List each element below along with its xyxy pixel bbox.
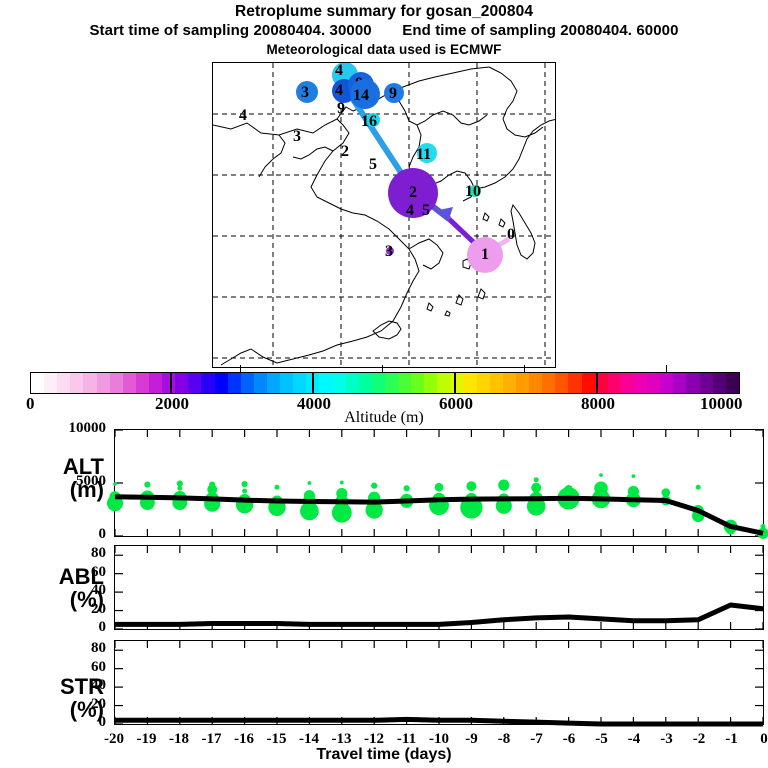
- colorbar-swatch: [700, 373, 713, 393]
- alt-scatter-point: [275, 485, 280, 490]
- colorbar-swatch: [516, 373, 529, 393]
- colorbar-swatch: [70, 373, 83, 393]
- alt-scatter-point: [242, 481, 248, 487]
- map-cluster-label: 0: [507, 227, 515, 243]
- panel-graphics: [115, 430, 763, 536]
- colorbar-swatch: [608, 373, 621, 393]
- colorbar-swatch: [398, 373, 411, 393]
- colorbar-swatch: [31, 373, 44, 393]
- map-cluster-label: 1: [481, 247, 489, 263]
- panel-graphics: [115, 641, 763, 724]
- alt-scatter-point: [534, 477, 539, 482]
- colorbar-swatch: [175, 373, 188, 393]
- start-time-label: Start time of sampling 20080404. 30000: [89, 22, 371, 39]
- str-timeseries-panel[interactable]: [114, 640, 764, 725]
- colorbar-divider: [454, 372, 456, 394]
- map-cluster-label: 3: [293, 129, 301, 145]
- panel-graphics: [115, 546, 763, 629]
- alt-scatter-point: [404, 485, 410, 491]
- end-time-label: End time of sampling 20080404. 60000: [402, 22, 678, 39]
- map-cluster-label: 4: [335, 63, 343, 79]
- y-axis-tick-label: 20: [56, 601, 106, 618]
- colorbar-swatch: [280, 373, 293, 393]
- colorbar-swatch: [319, 373, 332, 393]
- map-cluster-label: 16: [361, 114, 377, 130]
- met-data-label: Meteorological data used is ECMWF: [0, 40, 768, 59]
- abl-timeseries-panel[interactable]: [114, 545, 764, 630]
- colorbar-swatch: [686, 373, 699, 393]
- colorbar-swatch: [110, 373, 123, 393]
- colorbar-swatch: [555, 373, 568, 393]
- title-block: Retroplume summary for gosan_200804 Star…: [0, 2, 768, 59]
- colorbar-swatch: [726, 373, 739, 393]
- map-cluster-label: 4: [406, 203, 414, 219]
- colorbar-swatch: [346, 373, 359, 393]
- map-cluster-label: 5: [422, 203, 430, 219]
- colorbar-swatch: [57, 373, 70, 393]
- alt-scatter-point: [599, 473, 603, 477]
- colorbar-tick: [524, 365, 525, 372]
- colorbar-swatch: [542, 373, 555, 393]
- alt-scatter-point: [332, 503, 352, 523]
- map-cluster-label: 4: [335, 83, 343, 99]
- y-axis-tick-label: 0: [56, 714, 106, 731]
- map-cluster-label: 10: [465, 184, 481, 200]
- colorbar-swatch: [582, 373, 595, 393]
- sampling-times: Start time of sampling 20080404. 30000 E…: [0, 21, 768, 40]
- colorbar-tick: [240, 365, 241, 372]
- map-cluster-label: 14: [353, 88, 369, 104]
- map-cluster-label: 4: [239, 108, 247, 124]
- colorbar-swatch: [451, 373, 464, 393]
- alt-scatter-point: [531, 483, 541, 493]
- alt-scatter-point: [113, 482, 117, 486]
- colorbar-swatch: [97, 373, 110, 393]
- map-cluster-label: 9: [389, 86, 397, 102]
- altitude-colorbar[interactable]: [30, 372, 740, 394]
- alt-scatter-point: [300, 502, 319, 521]
- colorbar-swatch: [254, 373, 267, 393]
- map-cluster-label: 3: [385, 244, 393, 260]
- map-cluster-label: 9: [337, 101, 345, 117]
- colorbar-tick: [382, 365, 383, 372]
- colorbar-swatch: [372, 373, 385, 393]
- colorbar-swatch: [228, 373, 241, 393]
- colorbar-swatch: [490, 373, 503, 393]
- y-axis-tick-label: 40: [56, 677, 106, 694]
- colorbar-swatch: [713, 373, 726, 393]
- colorbar-swatch: [136, 373, 149, 393]
- colorbar-swatch: [673, 373, 686, 393]
- colorbar-swatch: [437, 373, 450, 393]
- colorbar-swatch: [83, 373, 96, 393]
- map-cluster-label: 5: [369, 157, 377, 173]
- colorbar-swatch: [424, 373, 437, 393]
- colorbar-axis-title: Altitude (m): [0, 409, 768, 427]
- colorbar-swatch: [464, 373, 477, 393]
- y-axis-tick-label: 20: [56, 696, 106, 713]
- alt-scatter-point: [466, 481, 476, 491]
- y-axis-tick-label: 80: [56, 640, 106, 657]
- colorbar-tick: [666, 365, 667, 372]
- alt-scatter-point: [308, 481, 312, 485]
- y-axis-tick-label: 5000: [56, 473, 106, 490]
- y-axis-tick-label: 40: [56, 582, 106, 599]
- alt-scatter-point: [177, 486, 182, 491]
- colorbar-swatch: [215, 373, 228, 393]
- colorbar-swatch: [123, 373, 136, 393]
- colorbar-swatch: [647, 373, 660, 393]
- alt-timeseries-panel[interactable]: [114, 429, 764, 537]
- map-cluster-label: 2: [409, 185, 417, 201]
- alt-scatter-point: [177, 480, 183, 486]
- trajectory-path: [213, 63, 556, 368]
- colorbar-swatch: [188, 373, 201, 393]
- colorbar-swatch: [568, 373, 581, 393]
- colorbar-divider: [596, 372, 598, 394]
- y-axis-tick-label: 80: [56, 545, 106, 562]
- alt-scatter-point: [242, 488, 247, 493]
- colorbar-swatch: [385, 373, 398, 393]
- colorbar-divider: [312, 372, 314, 394]
- alt-scatter-point: [498, 480, 509, 491]
- map-cluster-label: 3: [301, 85, 309, 101]
- x-axis-title: Travel time (days): [0, 746, 768, 764]
- y-axis-tick-label: 60: [56, 659, 106, 676]
- alt-scatter-point: [435, 483, 444, 492]
- retroplume-map[interactable]: 4334481499162511224510310: [212, 62, 556, 368]
- y-axis-tick-label: 0: [56, 526, 106, 543]
- y-axis-tick-label: 0: [56, 619, 106, 636]
- colorbar-divider: [170, 372, 172, 394]
- figure-title: Retroplume summary for gosan_200804: [0, 2, 768, 21]
- alt-scatter-point: [632, 474, 636, 478]
- colorbar-swatch: [149, 373, 162, 393]
- colorbar-swatch: [162, 373, 175, 393]
- colorbar-swatch: [529, 373, 542, 393]
- colorbar-swatch: [359, 373, 372, 393]
- alt-scatter-point: [340, 481, 344, 485]
- alt-scatter-point: [144, 481, 150, 487]
- map-cluster-label: 2: [341, 144, 349, 160]
- alt-scatter-point: [696, 485, 701, 490]
- y-axis-tick-label: 60: [56, 564, 106, 581]
- colorbar-swatch: [333, 373, 346, 393]
- colorbar-swatch: [241, 373, 254, 393]
- mean-line: [115, 605, 763, 624]
- colorbar-swatch: [411, 373, 424, 393]
- colorbar-swatch: [201, 373, 214, 393]
- colorbar-swatch: [44, 373, 57, 393]
- colorbar-swatch: [267, 373, 280, 393]
- colorbar-swatch: [660, 373, 673, 393]
- colorbar-swatch: [621, 373, 634, 393]
- colorbar-swatch: [503, 373, 516, 393]
- y-axis-tick-label: 10000: [56, 420, 106, 437]
- colorbar-gradient: [30, 372, 740, 394]
- colorbar-swatch: [293, 373, 306, 393]
- colorbar-swatch: [634, 373, 647, 393]
- alt-scatter-point: [371, 483, 377, 489]
- colorbar-swatch: [477, 373, 490, 393]
- map-cluster-label: 11: [416, 147, 431, 163]
